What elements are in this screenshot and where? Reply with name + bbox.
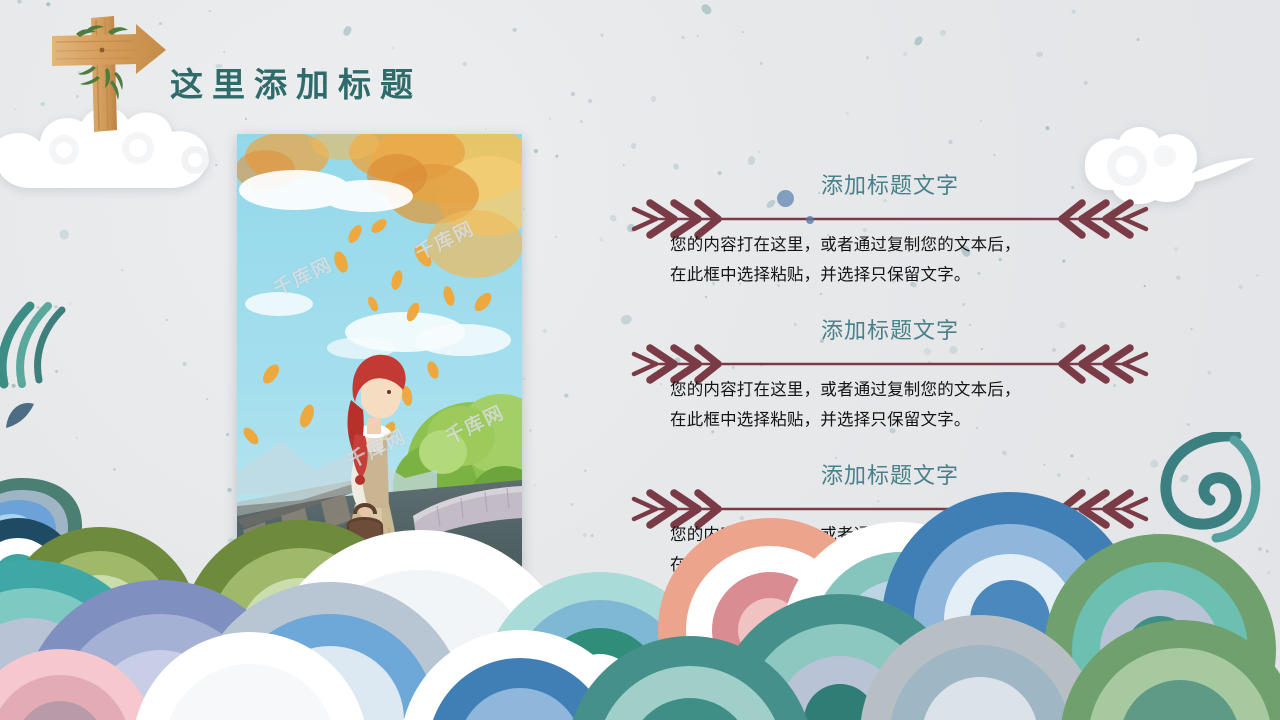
block-body: 您的内容打在这里，或者通过复制您的文本后， 在此框中选择粘贴，并选择只保留文字。 (670, 230, 1120, 290)
speckle (59, 229, 70, 240)
speckle (183, 362, 187, 366)
speckle (485, 128, 487, 130)
speckle (543, 329, 548, 334)
speckle (1207, 370, 1212, 375)
speckle (18, 0, 22, 4)
speckle (391, 47, 393, 49)
speckle (121, 269, 124, 272)
speckle (571, 92, 575, 96)
speckle (555, 154, 559, 158)
speckle (523, 208, 525, 210)
brush-stroke-left-top (0, 300, 82, 390)
wooden-signpost-arrow-icon (28, 6, 178, 136)
speckle (223, 51, 226, 54)
speckle (580, 120, 584, 124)
concentric-circle-wave-pattern (0, 390, 1280, 720)
speckle (549, 118, 552, 121)
speckle (609, 214, 618, 223)
slide-canvas: 千库网 千库网 千库网 千库网 添加标题文字 (0, 0, 1280, 720)
speckle (342, 25, 353, 37)
speckle (245, 118, 247, 120)
speckle (1174, 247, 1178, 251)
speckle (166, 319, 169, 322)
speckle (1191, 328, 1193, 330)
speckle (533, 148, 538, 153)
speckle (599, 237, 604, 242)
speckle (1238, 284, 1243, 289)
speckle (463, 62, 467, 66)
block-body-line: 您的内容打在这里，或者通过复制您的文本后， (670, 230, 1120, 260)
accent-dot-small (806, 216, 814, 224)
speckle (512, 27, 517, 32)
accent-dot-large (777, 190, 794, 207)
block-body-line: 在此框中选择粘贴，并选择只保留文字。 (670, 260, 1120, 290)
speckle (588, 99, 593, 104)
speckle (209, 10, 211, 12)
speckle (1176, 275, 1181, 280)
page-title: 这里添加标题 (170, 58, 422, 106)
speckle (600, 33, 604, 37)
speckle (1256, 274, 1259, 277)
speckle (523, 378, 525, 380)
speckle (555, 236, 557, 238)
